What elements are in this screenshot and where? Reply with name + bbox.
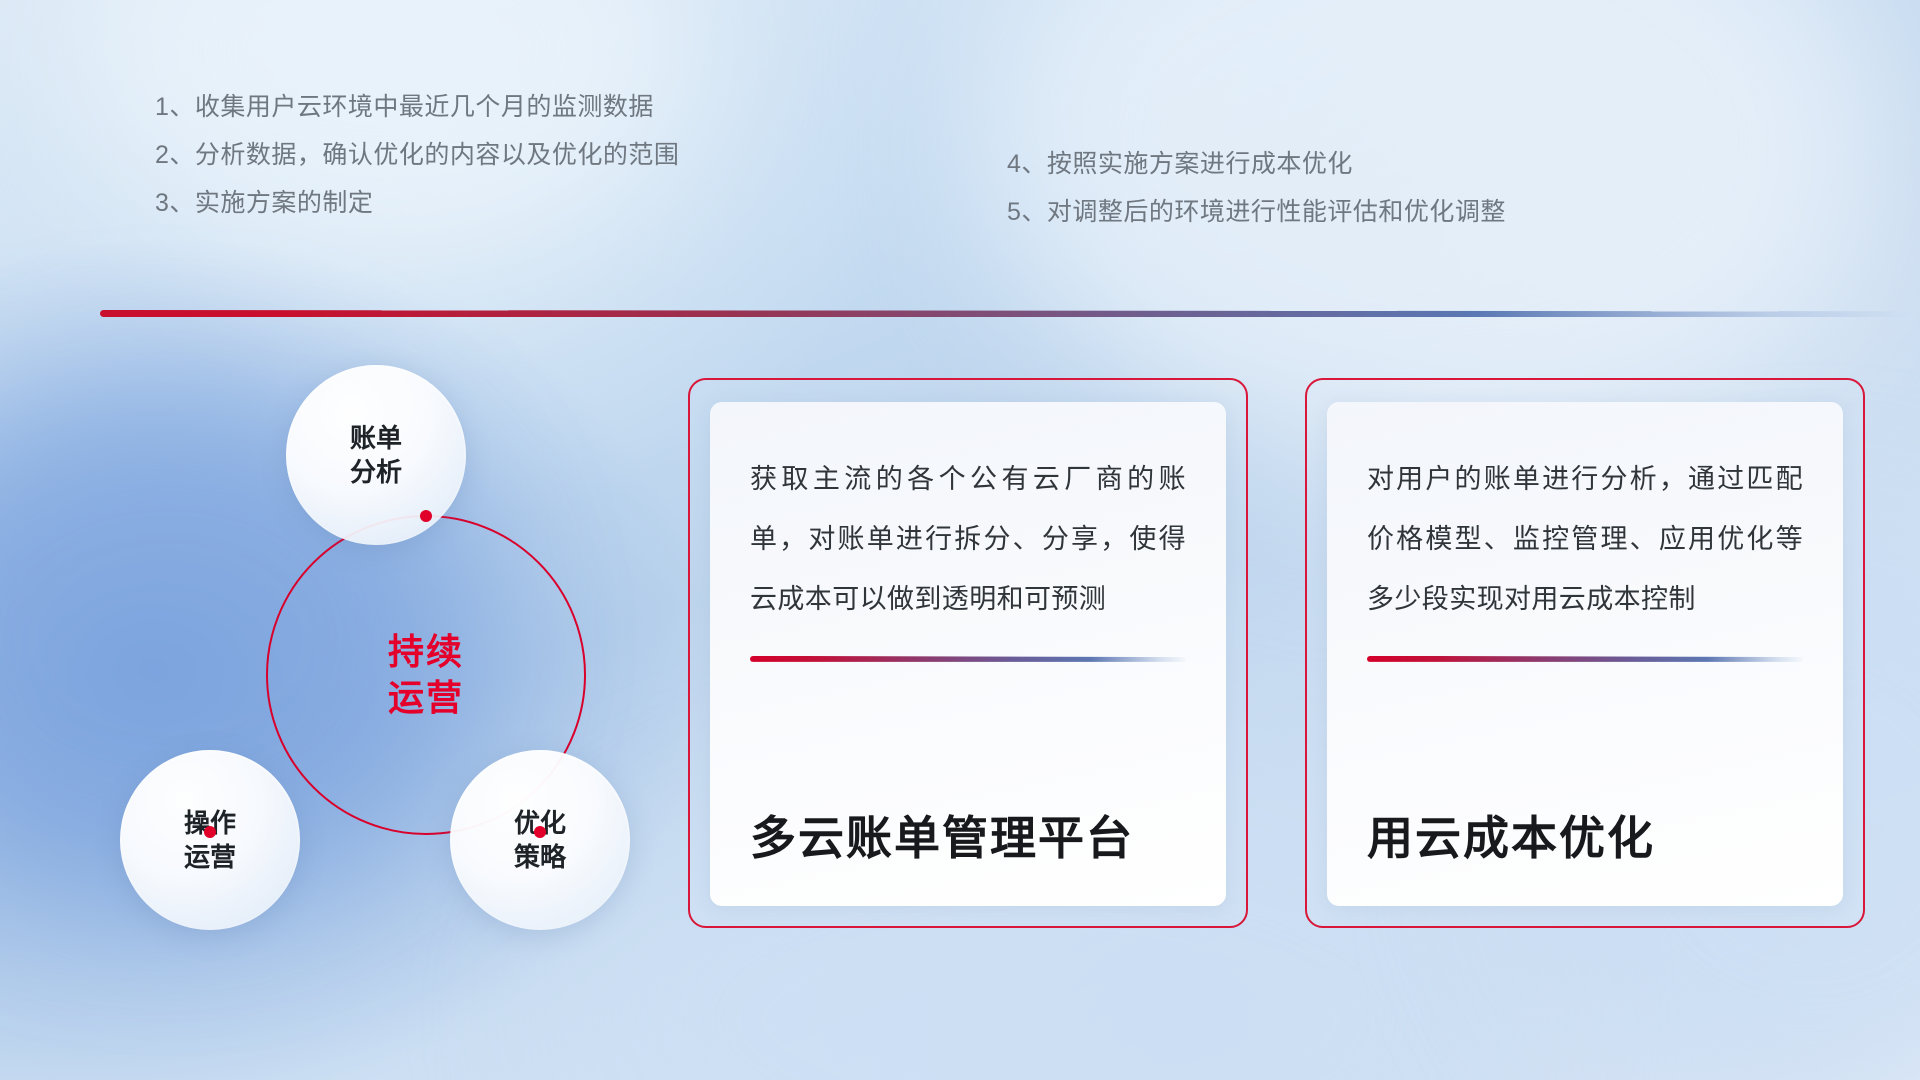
diagram-node-billing-analysis[interactable]: 账单 分析 <box>286 365 466 545</box>
node-label-line-1: 账单 <box>350 421 402 455</box>
step-item: 3、实施方案的制定 <box>155 191 679 216</box>
slide-canvas: 1、收集用户云环境中最近几个月的监测数据 2、分析数据，确认优化的内容以及优化的… <box>0 0 1920 1080</box>
step-item: 4、按照实施方案进行成本优化 <box>1007 152 1506 177</box>
center-label-line-1: 持续 <box>388 629 464 675</box>
diagram-node-operations[interactable]: 操作 运营 <box>120 750 300 930</box>
diagram-node-dot <box>420 510 432 522</box>
section-divider <box>100 310 1910 317</box>
step-item: 1、收集用户云环境中最近几个月的监测数据 <box>155 95 679 120</box>
card-title: 多云账单管理平台 <box>750 813 1186 876</box>
diagram-node-optimization-strategy[interactable]: 优化 策略 <box>450 750 630 930</box>
card-divider <box>750 656 1186 662</box>
node-label-line-2: 运营 <box>184 840 236 874</box>
diagram-node-dot <box>534 826 546 838</box>
node-label-line-2: 策略 <box>514 840 566 874</box>
card-inner: 获取主流的各个公有云厂商的账单，对账单进行拆分、分享，使得云成本可以做到透明和可… <box>710 402 1226 906</box>
feature-card-multi-cloud-billing[interactable]: 获取主流的各个公有云厂商的账单，对账单进行拆分、分享，使得云成本可以做到透明和可… <box>688 378 1248 928</box>
center-label-line-2: 运营 <box>388 675 464 721</box>
card-title: 用云成本优化 <box>1367 813 1803 876</box>
steps-left-column: 1、收集用户云环境中最近几个月的监测数据 2、分析数据，确认优化的内容以及优化的… <box>155 95 679 239</box>
step-item: 5、对调整后的环境进行性能评估和优化调整 <box>1007 200 1506 225</box>
step-item: 2、分析数据，确认优化的内容以及优化的范围 <box>155 143 679 168</box>
diagram-node-dot <box>204 826 216 838</box>
card-inner: 对用户的账单进行分析，通过匹配价格模型、监控管理、应用优化等多少段实现对用云成本… <box>1327 402 1843 906</box>
continuous-operations-diagram: 持续 运营 账单 分析 操作 运营 优化 策略 <box>100 350 640 950</box>
steps-right-column: 4、按照实施方案进行成本优化 5、对调整后的环境进行性能评估和优化调整 <box>1007 152 1506 248</box>
card-description: 获取主流的各个公有云厂商的账单，对账单进行拆分、分享，使得云成本可以做到透明和可… <box>750 450 1186 630</box>
node-label-line-2: 分析 <box>350 455 402 489</box>
card-description: 对用户的账单进行分析，通过匹配价格模型、监控管理、应用优化等多少段实现对用云成本… <box>1367 450 1803 630</box>
feature-card-cloud-cost-optimization[interactable]: 对用户的账单进行分析，通过匹配价格模型、监控管理、应用优化等多少段实现对用云成本… <box>1305 378 1865 928</box>
card-divider <box>1367 656 1803 662</box>
